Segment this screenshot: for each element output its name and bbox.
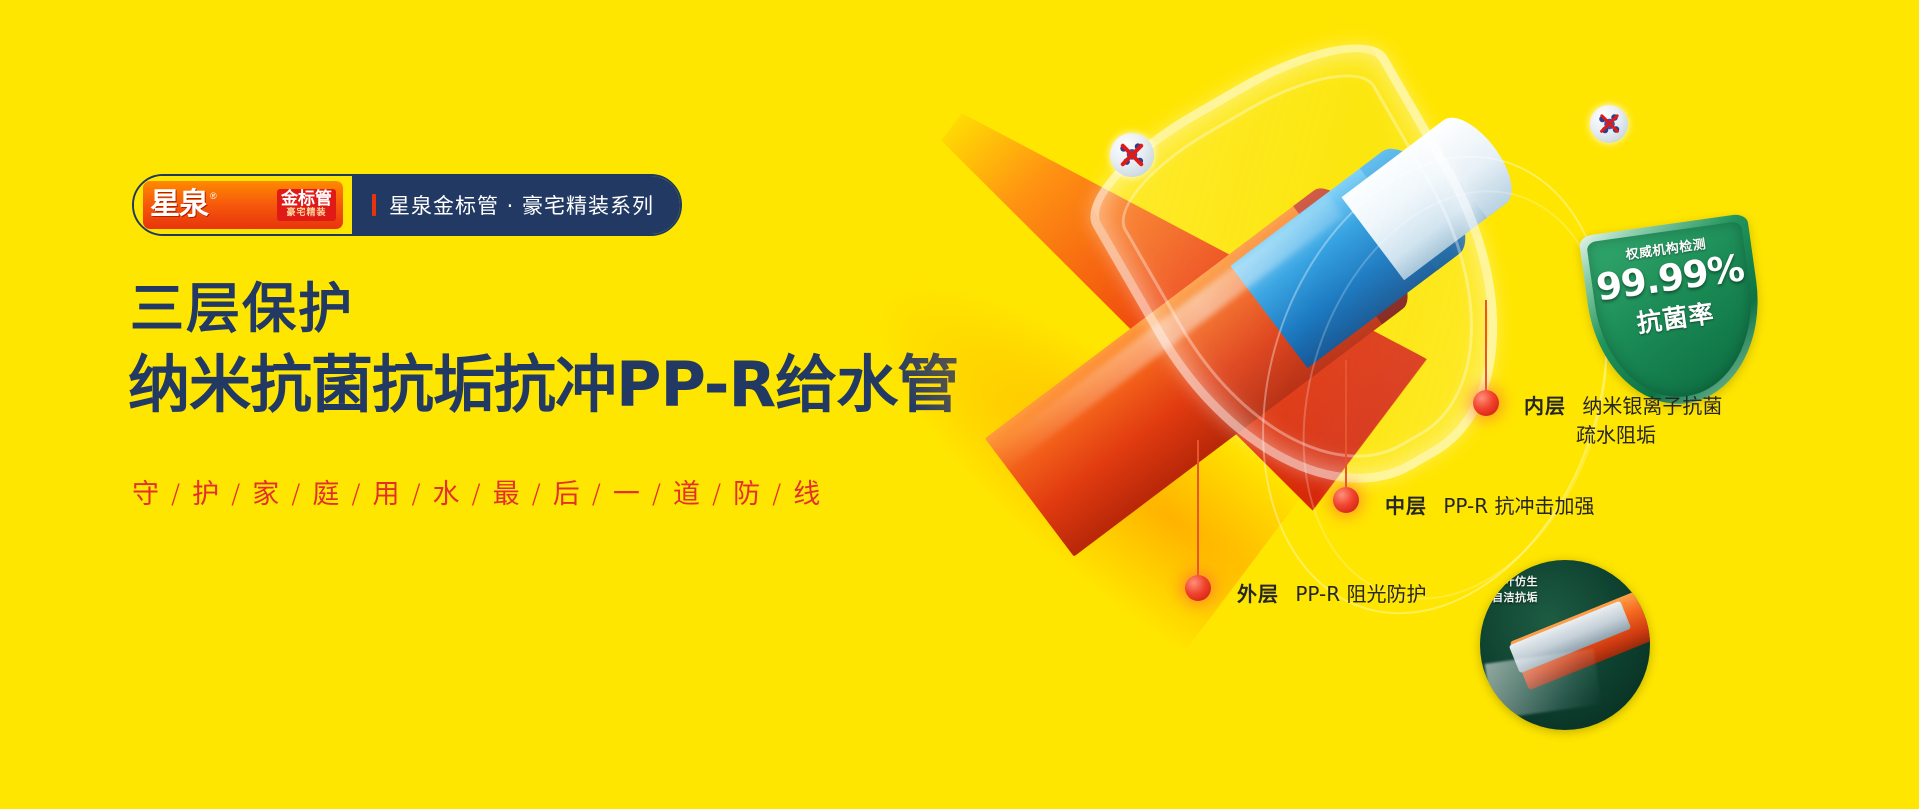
logo-box-line1: 金标管 [281,191,332,208]
callout-dot-middle [1333,487,1359,513]
headline-kicker: 三层保护 [130,282,354,336]
tagline-bar-icon [372,194,376,216]
subtitle-char: 用 [372,479,402,510]
subtitle-separator: / [652,479,664,510]
subtitle-separator: / [772,479,784,510]
registered-trademark-icon: ® [210,191,217,201]
callout-leader-line-outer [1197,440,1199,580]
logo-product-box: 金标管 豪宅精装 [277,189,336,221]
inset-caption-line2: 自洁抗垢 [1492,590,1538,606]
logo-brand-name: 星泉 [150,190,208,220]
subtitle-char: 道 [673,479,703,510]
callout-middle-value-1: PP-R 抗冲击加强 [1443,494,1594,518]
subtitle-char: 线 [793,479,823,510]
callout-dot-inner [1473,390,1499,416]
subtitle-separator: / [532,479,544,510]
lotus-effect-inset: 荷叶仿生 自洁抗垢 [1480,560,1650,730]
callout-leader-line-middle [1345,360,1347,492]
inset-caption-line1: 荷叶仿生 [1492,574,1538,590]
callout-outer-layer: 外层 PP-R 阻光防护 [1237,580,1427,609]
logo-badge: 星泉 ® 金标管 豪宅精装 [143,181,343,229]
shield-badge-icon: 权威机构检测 99.99% 抗菌率 [1578,213,1771,415]
subtitle-char: 防 [733,479,763,510]
subtitle-char: 一 [613,479,643,510]
logo-tagline: 星泉金标管 · 豪宅精装系列 [389,190,654,220]
inset-caption: 荷叶仿生 自洁抗垢 [1492,574,1538,606]
product-artwork [960,40,1580,660]
callout-inner-layer: 内层 纳米银离子抗菌 疏水阻垢 [1524,392,1722,450]
subtitle-separator: / [712,479,724,510]
subtitle-char: 家 [252,479,282,510]
callout-leader-line-inner [1485,300,1487,395]
promo-banner: 星泉 ® 金标管 豪宅精装 星泉金标管 · 豪宅精装系列 三层保护 纳米抗菌抗垢… [0,0,1919,809]
callout-inner-label: 内层 [1524,394,1566,418]
headline-subtitle: 守/护/家/庭/用/水/最/后/一/道/防/线 [132,472,823,511]
subtitle-separator: / [592,479,604,510]
bacteria-blocked-icon [1110,133,1154,177]
callout-dot-outer [1185,575,1211,601]
inset-water-stream [1485,649,1602,720]
subtitle-separator: / [411,479,423,510]
logo-tagline-container: 星泉金标管 · 豪宅精装系列 [352,176,680,234]
logo-mark-container: 星泉 ® 金标管 豪宅精装 [134,176,352,234]
bacteria-blocked-icon [1590,105,1628,143]
subtitle-separator: / [171,479,183,510]
callout-middle-label: 中层 [1385,494,1427,518]
callout-middle-layer: 中层 PP-R 抗冲击加强 [1385,492,1595,521]
subtitle-separator: / [291,479,303,510]
subtitle-char: 护 [192,479,222,510]
subtitle-separator: / [231,479,243,510]
callout-outer-value-1: PP-R 阻光防护 [1295,582,1426,606]
logo-box-line2: 豪宅精装 [286,209,326,218]
callout-outer-label: 外层 [1237,582,1279,606]
subtitle-char: 最 [493,479,523,510]
brand-logo-bar[interactable]: 星泉 ® 金标管 豪宅精装 星泉金标管 · 豪宅精装系列 [132,174,682,236]
callout-inner-value-2: 疏水阻垢 [1576,423,1656,447]
subtitle-separator: / [472,479,484,510]
subtitle-char: 守 [132,479,162,510]
subtitle-char: 水 [433,479,463,510]
subtitle-char: 后 [553,479,583,510]
callout-inner-value-1: 纳米银离子抗菌 [1582,394,1722,418]
badge-text-group: 权威机构检测 99.99% 抗菌率 [1578,213,1771,415]
subtitle-char: 庭 [312,479,342,510]
subtitle-separator: / [351,479,363,510]
